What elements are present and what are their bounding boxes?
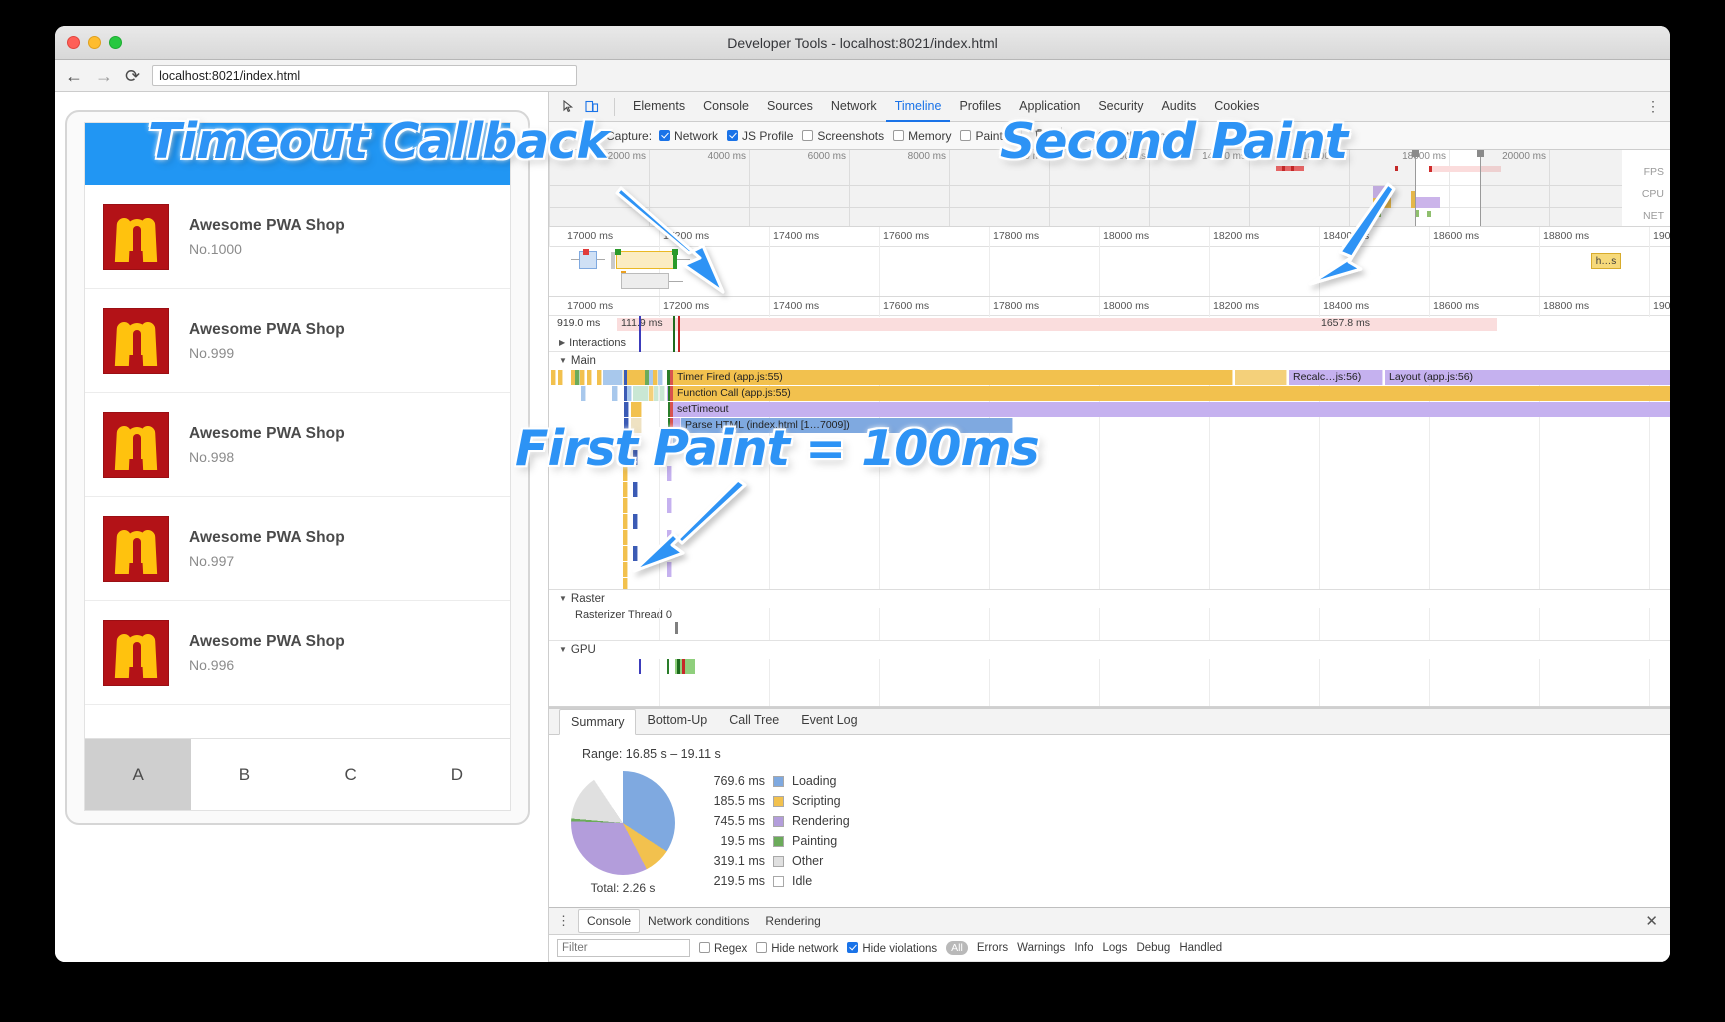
toolbar-divider (614, 98, 615, 116)
legend-swatch-other (773, 856, 784, 867)
drawer-tab-console[interactable]: Console (578, 909, 640, 933)
main-flame-chart[interactable]: Timer Fired (app.js:55) Recalc…js:56) La… (549, 370, 1670, 590)
legend-label: Scripting (792, 794, 841, 808)
tab-audits[interactable]: Audits (1152, 92, 1205, 122)
shop-name: Awesome PWA Shop (189, 217, 345, 235)
tab-sources[interactable]: Sources (758, 92, 822, 122)
checkbox-icon (699, 942, 710, 953)
flame-bar-function-call[interactable]: Function Call (app.js:55) (673, 386, 1670, 401)
capture-toolbar: Capture: Network JS Profile Screenshots … (549, 122, 1670, 150)
gpu-label: GPU (571, 644, 596, 656)
summary-total: Total: 2.26 s (571, 881, 675, 895)
legend-swatch-idle (773, 876, 784, 887)
overview-dim-right (1481, 150, 1622, 226)
legend-label: Rendering (792, 814, 850, 828)
devtools-window: Developer Tools - localhost:8021/index.h… (55, 26, 1670, 962)
ruler-tick: 18400 ms (1323, 230, 1369, 242)
forward-arrow-icon[interactable]: → (95, 67, 113, 85)
detail-tab-bottom-up[interactable]: Bottom-Up (636, 708, 718, 734)
shop-list: Awesome PWA Shop No.1000 Awesome PWA Sho… (85, 185, 510, 738)
hide-network-label: Hide network (771, 943, 838, 955)
rasterizer-thread-label: Rasterizer Thread 0 (549, 608, 1670, 623)
flame-bar-recalc-style[interactable]: Recalc…js:56) (1289, 370, 1383, 385)
ruler-tick: 18200 ms (1213, 230, 1259, 242)
network-duration-left: 919.0 ms (557, 317, 600, 329)
flame-bar-timer-fired[interactable]: Timer Fired (app.js:55) (673, 370, 1233, 385)
level-info-button[interactable]: Info (1074, 942, 1093, 954)
legend-row[interactable]: 769.6 ms Loading (697, 771, 850, 791)
checkbox-icon (847, 942, 858, 953)
timeline-overview[interactable]: 2000 ms 4000 ms 6000 ms 8000 ms 10000 ms… (549, 150, 1670, 227)
close-window-button[interactable] (67, 36, 80, 49)
console-filter-input[interactable] (557, 939, 690, 957)
shop-logo-icon (103, 412, 169, 478)
overview-lane-labels: FPS CPU NET (1622, 150, 1670, 226)
legend-row[interactable]: 185.5 ms Scripting (697, 791, 850, 811)
detail-tabbar: Summary Bottom-Up Call Tree Event Log (549, 709, 1670, 735)
detail-tab-call-tree[interactable]: Call Tree (718, 708, 790, 734)
list-item[interactable]: Awesome PWA Shop No.998 (85, 393, 510, 497)
page-viewport: Awesome PWA Shop No.1000 Awesome PWA Sho… (55, 92, 548, 962)
flame-bar-settimeout[interactable]: setTimeout (673, 402, 1670, 417)
network-duration-mid: 111.9 ms (621, 317, 663, 329)
ruler-tick: 18800 ms (1543, 300, 1589, 312)
overview-handle-left[interactable] (1412, 150, 1419, 157)
level-debug-button[interactable]: Debug (1136, 942, 1170, 954)
drawer-tab-rendering[interactable]: Rendering (757, 910, 828, 932)
checkbox-icon (659, 130, 670, 141)
legend-swatch-scripting (773, 796, 784, 807)
kebab-menu-icon[interactable]: ⋮ (557, 913, 570, 929)
trash-icon[interactable] (1034, 128, 1046, 144)
gpu-track[interactable] (549, 659, 1670, 707)
legend-value: 19.5 ms (697, 834, 765, 848)
flame-bar-parse-html[interactable]: Parse HTML (index.html [1…7009]) (681, 418, 1013, 433)
address-bar[interactable]: localhost:8021/index.html (152, 65, 577, 86)
summary-range-label: Range: 16.85 s – 19.11 s (549, 735, 1670, 761)
detail-pane: Summary Bottom-Up Call Tree Event Log Ra… (549, 708, 1670, 907)
checkbox-icon (756, 942, 767, 953)
toolbar-divider (1021, 127, 1022, 145)
ruler-tick: 17200 ms (663, 300, 709, 312)
legend-value: 745.5 ms (697, 814, 765, 828)
minimize-window-button[interactable] (88, 36, 101, 49)
bottom-tab-a[interactable]: A (85, 739, 191, 810)
ruler-tick: 19000 ms (1653, 230, 1670, 242)
drawer-tabbar: ⋮ Console Network conditions Rendering ✕ (549, 908, 1670, 935)
window-title: Developer Tools - localhost:8021/index.h… (55, 26, 1670, 60)
tab-console[interactable]: Console (694, 92, 758, 122)
checkbox-icon (893, 130, 904, 141)
chevron-down-icon[interactable]: ▼ (1238, 131, 1247, 141)
inspect-element-icon[interactable] (557, 96, 579, 118)
close-icon[interactable]: ✕ (1645, 912, 1658, 930)
shop-number: No.1000 (189, 241, 345, 257)
window-controls[interactable] (67, 36, 122, 49)
tab-elements[interactable]: Elements (624, 92, 694, 122)
legend-value: 219.5 ms (697, 874, 765, 888)
hide-network-checkbox[interactable]: Hide network (756, 942, 838, 955)
summary-pie-block: Total: 2.26 s (571, 771, 675, 895)
capture-paint-checkbox[interactable]: Paint (960, 129, 1002, 143)
capture-jsprofile-checkbox[interactable]: JS Profile (727, 129, 793, 143)
interactions-track[interactable]: ▶Interactions (549, 333, 1670, 352)
tab-application[interactable]: Application (1010, 92, 1089, 122)
device-mockup: Awesome PWA Shop No.1000 Awesome PWA Sho… (65, 110, 530, 825)
level-all-button[interactable]: All (946, 941, 968, 955)
level-errors-button[interactable]: Errors (977, 942, 1008, 954)
regex-label: Regex (714, 943, 747, 955)
summary-pie-chart[interactable] (571, 771, 675, 875)
tab-timeline[interactable]: Timeline (886, 92, 951, 122)
ruler-tick: 17000 ms (567, 230, 613, 242)
browser-toolbar: ← → ⟳ localhost:8021/index.html (55, 60, 1670, 92)
legend-label: Loading (792, 774, 837, 788)
level-handled-button[interactable]: Handled (1179, 942, 1222, 954)
overview-dim-left (549, 150, 1415, 226)
detail-tab-summary[interactable]: Summary (559, 709, 636, 735)
bottom-tab-c[interactable]: C (298, 739, 404, 810)
legend-label: Idle (792, 874, 812, 888)
legend-value: 769.6 ms (697, 774, 765, 788)
ruler-tick: 17800 ms (993, 300, 1039, 312)
ruler-tick: 17000 ms (567, 300, 613, 312)
ruler-tick: 19000 ms (1653, 300, 1670, 312)
network-request-track[interactable]: 919.0 ms 111.9 ms 1657.8 ms (549, 316, 1670, 333)
capture-network-checkbox[interactable]: Network (659, 129, 718, 143)
shop-logo-icon (103, 204, 169, 270)
list-item[interactable]: Awesome PWA Shop No.1000 (85, 185, 510, 289)
tab-network[interactable]: Network (822, 92, 886, 122)
ruler-tick: 18600 ms (1433, 230, 1479, 242)
timeline-frames-track: h…s (549, 247, 1670, 297)
regex-checkbox[interactable]: Regex (699, 942, 747, 955)
overview-lane-fps: FPS (1644, 166, 1664, 178)
ruler-tick: 18800 ms (1543, 230, 1589, 242)
gpu-track-header[interactable]: ▼GPU (549, 641, 1670, 659)
legend-value: 185.5 ms (697, 794, 765, 808)
legend-row[interactable]: 745.5 ms Rendering (697, 811, 850, 831)
shop-number: No.996 (189, 657, 345, 673)
capture-jsprofile-label: JS Profile (742, 129, 793, 143)
raster-label: Raster (571, 593, 605, 605)
back-arrow-icon[interactable]: ← (65, 67, 83, 85)
shop-logo-icon (103, 308, 169, 374)
device-toolbar-icon[interactable] (581, 96, 603, 118)
kebab-menu-icon[interactable]: ⋮ (1646, 98, 1660, 115)
capture-screenshots-label: Screenshots (817, 129, 884, 143)
list-item[interactable]: Awesome PWA Shop No.997 (85, 497, 510, 601)
capture-label: Capture: (606, 129, 652, 143)
record-icon[interactable] (558, 130, 569, 141)
hide-violations-checkbox[interactable]: Hide violations (847, 942, 937, 955)
maximize-window-button[interactable] (109, 36, 122, 49)
ruler-tick: 17400 ms (773, 300, 819, 312)
main-label: Main (571, 355, 596, 367)
shop-logo-icon (103, 516, 169, 582)
devtools-tabbar: Elements Console Sources Network Timelin… (549, 92, 1670, 122)
ruler-tick: 17400 ms (773, 230, 819, 242)
checkbox-icon (802, 130, 813, 141)
ruler-tick: 18000 ms (1103, 300, 1149, 312)
shop-logo-icon (103, 620, 169, 686)
bottom-tab-bar: A B C D (85, 738, 510, 810)
legend-value: 319.1 ms (697, 854, 765, 868)
shop-number: No.998 (189, 449, 345, 465)
legend-row[interactable]: 19.5 ms Painting (697, 831, 850, 851)
clear-icon[interactable] (580, 129, 593, 142)
shop-name: Awesome PWA Shop (189, 529, 345, 547)
detail-tab-event-log[interactable]: Event Log (790, 708, 868, 734)
reload-icon[interactable]: ⟳ (125, 67, 140, 85)
ruler-tick: 18600 ms (1433, 300, 1479, 312)
app-header-bar (85, 123, 510, 185)
toolbar-divider (1061, 127, 1062, 145)
timeline-ruler-mid: 17000 ms 17200 ms 17400 ms 17600 ms 1780… (549, 297, 1670, 316)
flame-bar-layout[interactable]: Layout (app.js:56) (1385, 370, 1670, 385)
window-titlebar: Developer Tools - localhost:8021/index.h… (55, 26, 1670, 60)
legend-row[interactable]: 319.1 ms Other (697, 851, 850, 871)
legend-swatch-loading (773, 776, 784, 787)
legend-label: Other (792, 854, 823, 868)
interactions-label: Interactions (569, 337, 626, 349)
ruler-tick: 17800 ms (993, 230, 1039, 242)
legend-row[interactable]: 219.5 ms Idle (697, 871, 850, 891)
overview-lane-net: NET (1643, 210, 1664, 222)
overview-handle-right[interactable] (1477, 150, 1484, 157)
checkbox-icon (960, 130, 971, 141)
overview-selection-window[interactable] (1415, 150, 1481, 226)
drawer-tab-network-conditions[interactable]: Network conditions (640, 910, 757, 932)
ruler-tick: 17600 ms (883, 230, 929, 242)
level-logs-button[interactable]: Logs (1103, 942, 1128, 954)
main-track-header[interactable]: ▼Main (549, 352, 1670, 370)
ruler-tick: 18000 ms (1103, 230, 1149, 242)
checkbox-icon (727, 130, 738, 141)
list-item[interactable]: Awesome PWA Shop No.999 (85, 289, 510, 393)
legend-label: Painting (792, 834, 837, 848)
tab-security[interactable]: Security (1089, 92, 1152, 122)
chevron-down-icon[interactable]: ▼ (559, 352, 567, 370)
devtools-panel: Elements Console Sources Network Timelin… (548, 92, 1670, 962)
shop-number: No.999 (189, 345, 345, 361)
capture-network-label: Network (674, 129, 718, 143)
timeline-ruler-top: 17000 ms 17200 ms 17400 ms 17600 ms 1780… (549, 227, 1670, 246)
console-drawer: ⋮ Console Network conditions Rendering ✕… (549, 907, 1670, 962)
capture-paint-label: Paint (975, 129, 1002, 143)
shop-name: Awesome PWA Shop (189, 633, 345, 651)
overview-lane-cpu: CPU (1642, 188, 1664, 200)
tab-cookies[interactable]: Cookies (1205, 92, 1268, 122)
shop-name: Awesome PWA Shop (189, 425, 345, 443)
ruler-tick: 17600 ms (883, 300, 929, 312)
capture-screenshots-checkbox[interactable]: Screenshots (802, 129, 884, 143)
chevron-down-icon[interactable]: ▼ (559, 641, 567, 659)
capture-memory-label: Memory (908, 129, 951, 143)
chevron-down-icon[interactable]: ▼ (559, 590, 567, 608)
chevron-right-icon[interactable]: ▶ (559, 333, 565, 352)
bottom-tab-d[interactable]: D (404, 739, 510, 810)
capture-memory-checkbox[interactable]: Memory (893, 129, 951, 143)
ruler-tick: 18200 ms (1213, 300, 1259, 312)
shop-name: Awesome PWA Shop (189, 321, 345, 339)
level-warnings-button[interactable]: Warnings (1017, 942, 1065, 954)
filmstrip-thumbnail[interactable]: h…s (1591, 253, 1621, 269)
list-item[interactable]: Awesome PWA Shop No.996 (85, 601, 510, 705)
ruler-tick: 17200 ms (663, 230, 709, 242)
cpu-throttling-select[interactable]: No CPU throttling (1079, 129, 1172, 143)
raster-track-header[interactable]: ▼Raster (549, 590, 1670, 608)
hide-violations-label: Hide violations (862, 943, 937, 955)
legend-swatch-painting (773, 836, 784, 847)
console-filter-bar: Regex Hide network Hide violations All E… (549, 935, 1670, 962)
shop-number: No.997 (189, 553, 345, 569)
raster-track[interactable]: Rasterizer Thread 0 (549, 608, 1670, 641)
ruler-tick: 18400 ms (1323, 300, 1369, 312)
bottom-tab-b[interactable]: B (191, 739, 297, 810)
network-duration-right: 1657.8 ms (1321, 317, 1370, 329)
summary-legend: 769.6 ms Loading 185.5 ms Scripting 745.… (697, 771, 850, 895)
tab-profiles[interactable]: Profiles (950, 92, 1010, 122)
legend-swatch-rendering (773, 816, 784, 827)
